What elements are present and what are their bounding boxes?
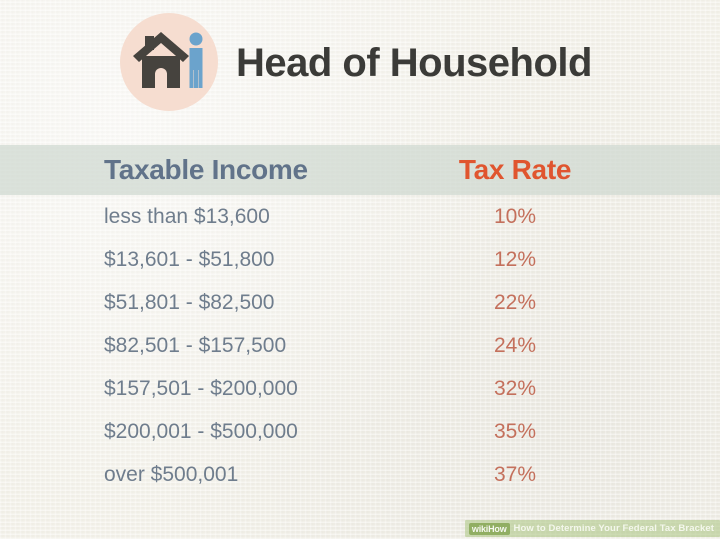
table-row: $13,601 - $51,800 12%: [0, 238, 720, 281]
table-row: $82,501 - $157,500 24%: [0, 324, 720, 367]
cell-tax-rate: 22%: [400, 291, 630, 315]
wikihow-watermark: wikiHow How to Determine Your Federal Ta…: [465, 520, 720, 537]
table-row: $51,801 - $82,500 22%: [0, 281, 720, 324]
cell-tax-rate: 24%: [400, 334, 630, 358]
house-with-person-icon: [120, 13, 218, 111]
cell-taxable-income: $82,501 - $157,500: [0, 334, 400, 358]
cell-taxable-income: $51,801 - $82,500: [0, 291, 400, 315]
column-header-taxable-income: Taxable Income: [0, 154, 400, 186]
table-header-row: Taxable Income Tax Rate: [0, 145, 720, 195]
watermark-article-title: How to Determine Your Federal Tax Bracke…: [514, 523, 715, 534]
table-row: $200,001 - $500,000 35%: [0, 410, 720, 453]
cell-taxable-income: less than $13,600: [0, 205, 400, 229]
infographic-content: Head of Household Taxable Income Tax Rat…: [0, 0, 720, 539]
wikihow-logo: wikiHow: [469, 523, 510, 535]
cell-taxable-income: $13,601 - $51,800: [0, 248, 400, 272]
cell-tax-rate: 35%: [400, 420, 630, 444]
cell-tax-rate: 32%: [400, 377, 630, 401]
cell-taxable-income: $200,001 - $500,000: [0, 420, 400, 444]
table-row: over $500,001 37%: [0, 453, 720, 496]
column-header-tax-rate: Tax Rate: [400, 154, 630, 186]
table-row: less than $13,600 10%: [0, 195, 720, 238]
cell-tax-rate: 12%: [400, 248, 630, 272]
cell-taxable-income: $157,501 - $200,000: [0, 377, 400, 401]
infographic-header: Head of Household: [0, 0, 720, 128]
page-title: Head of Household: [236, 43, 592, 83]
cell-tax-rate: 37%: [400, 463, 630, 487]
cell-taxable-income: over $500,001: [0, 463, 400, 487]
table-row: $157,501 - $200,000 32%: [0, 367, 720, 410]
tax-bracket-table: Taxable Income Tax Rate less than $13,60…: [0, 145, 720, 496]
cell-tax-rate: 10%: [400, 205, 630, 229]
